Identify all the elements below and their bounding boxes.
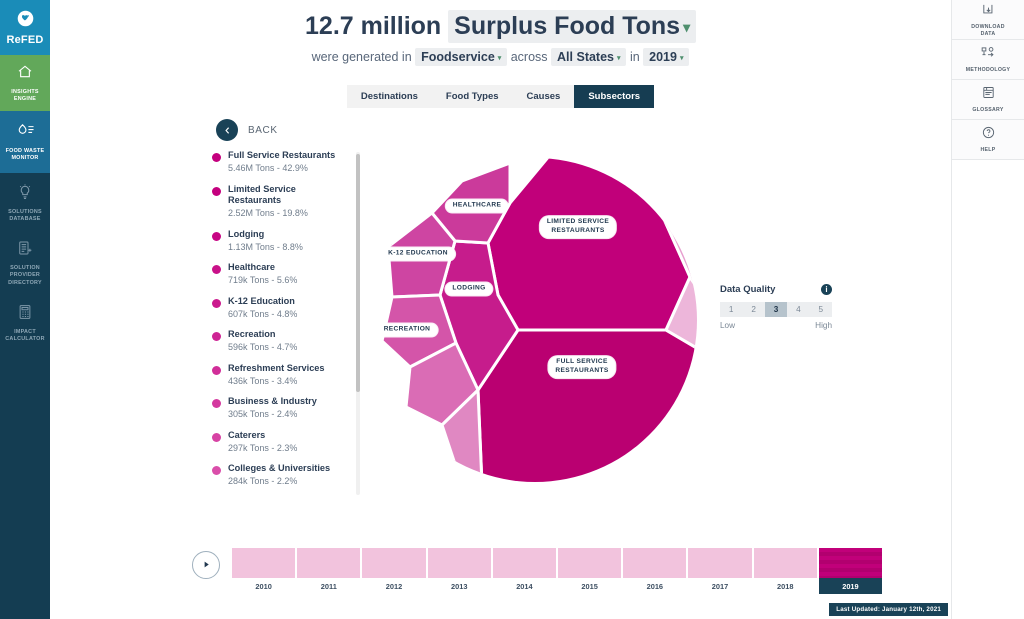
question-circle-icon [981, 125, 996, 145]
timeline-year-2017[interactable]: 2017 [688, 548, 751, 594]
chart-slices [382, 155, 700, 485]
year-dropdown[interactable]: 2019▾ [643, 48, 689, 66]
page-header: 12.7 million Surplus Food Tons▾ were gen… [50, 10, 951, 66]
sidebar-label-solutions-database: SOLUTIONS DATABASE [8, 209, 42, 224]
legend-color-dot [212, 153, 221, 162]
timeline-year-label: 2019 [819, 578, 882, 594]
chart-label-full-service-restaurants: FULL SERVICE RESTAURANTS [548, 356, 615, 378]
chart-label-healthcare: HEALTHCARE [446, 200, 508, 213]
app-root: ReFED INSIGHTS ENGINE FOOD WASTE MONITOR… [0, 0, 1024, 619]
home-icon [16, 63, 34, 86]
calculator-icon [16, 303, 34, 326]
legend-item[interactable]: K-12 Education607k Tons - 4.8% [212, 296, 347, 319]
lightbulb-icon [16, 183, 34, 206]
download-data-label: DOWNLOAD DATA [971, 24, 1005, 38]
glossary-button[interactable]: GLOSSARY [952, 80, 1024, 120]
prefix-text: were generated in [312, 50, 412, 64]
chevron-down-icon: ▾ [498, 55, 501, 62]
timeline-year-label: 2018 [754, 578, 817, 594]
tab-bar: Destinations Food Types Causes Subsector… [50, 85, 951, 108]
timeline-bar [232, 548, 295, 578]
data-quality-scale: 12345 [720, 302, 832, 317]
chevron-down-icon: ▾ [680, 55, 683, 62]
data-quality-high-label: High [815, 321, 832, 330]
timeline-year-2014[interactable]: 2014 [493, 548, 556, 594]
sidebar-label-solution-provider-directory: SOLUTION PROVIDER DIRECTORY [8, 265, 42, 287]
legend-item-value: 596k Tons - 4.7% [228, 342, 297, 352]
refed-smiley-icon [17, 10, 34, 32]
methodology-icon [980, 45, 996, 65]
chevron-left-icon [216, 119, 238, 141]
legend-item[interactable]: Lodging1.13M Tons - 8.8% [212, 229, 347, 252]
legend-item-value: 305k Tons - 2.4% [228, 409, 317, 419]
sidebar-item-solutions-database[interactable]: SOLUTIONS DATABASE [0, 173, 50, 233]
in-text: in [630, 50, 640, 64]
legend-color-dot [212, 399, 221, 408]
play-button[interactable] [192, 551, 220, 579]
left-sidebar: ReFED INSIGHTS ENGINE FOOD WASTE MONITOR… [0, 0, 50, 619]
back-label: BACK [248, 125, 278, 136]
sidebar-label-food-waste-monitor: FOOD WASTE MONITOR [6, 148, 45, 163]
timeline-year-2012[interactable]: 2012 [362, 548, 425, 594]
legend-item-label: Caterers [228, 430, 297, 442]
timeline-bar [428, 548, 491, 578]
timeline-year-2018[interactable]: 2018 [754, 548, 817, 594]
timeline-year-2011[interactable]: 2011 [297, 548, 360, 594]
timeline-bar [493, 548, 556, 578]
chart-svg [370, 155, 700, 485]
voronoi-treemap-chart: FULL SERVICE RESTAURANTS LIMITED SERVICE… [370, 155, 700, 485]
timeline-year-2010[interactable]: 2010 [232, 548, 295, 594]
region-label: All States [557, 50, 614, 64]
sector-label: Foodservice [421, 50, 495, 64]
legend-item[interactable]: Business & Industry305k Tons - 2.4% [212, 396, 347, 419]
timeline-year-label: 2012 [362, 578, 425, 594]
data-quality-level-5[interactable]: 5 [810, 302, 832, 317]
brand-name: ReFED [6, 34, 43, 46]
methodology-label: METHODOLOGY [966, 67, 1011, 74]
help-label: HELP [980, 147, 995, 154]
legend-item-label: Limited Service Restaurants [228, 184, 347, 207]
legend-list: Full Service Restaurants5.46M Tons - 42.… [212, 150, 347, 495]
info-icon[interactable]: i [821, 284, 832, 295]
legend-color-dot [212, 433, 221, 442]
sidebar-item-food-waste-monitor[interactable]: FOOD WASTE MONITOR [0, 111, 50, 173]
timeline-year-label: 2013 [428, 578, 491, 594]
legend-scrollbar-thumb[interactable] [356, 154, 360, 392]
region-dropdown[interactable]: All States▾ [551, 48, 626, 66]
legend-item-label: Healthcare [228, 262, 297, 274]
legend-item-label: Recreation [228, 329, 297, 341]
legend-item[interactable]: Full Service Restaurants5.46M Tons - 42.… [212, 150, 347, 173]
timeline-year-label: 2016 [623, 578, 686, 594]
subheadline: were generated in Foodservice▾ across Al… [50, 48, 951, 66]
timeline-year-label: 2014 [493, 578, 556, 594]
data-quality-low-label: Low [720, 321, 735, 330]
sidebar-item-solution-provider-directory[interactable]: SOLUTION PROVIDER DIRECTORY [0, 233, 50, 293]
metric-label: Surplus Food Tons [454, 12, 680, 40]
play-icon [202, 556, 211, 574]
sidebar-label-insights-engine: INSIGHTS ENGINE [11, 89, 38, 104]
legend-color-dot [212, 265, 221, 274]
legend-item[interactable]: Healthcare719k Tons - 5.6% [212, 262, 347, 285]
legend-color-dot [212, 299, 221, 308]
data-quality-level-3[interactable]: 3 [765, 302, 787, 317]
book-icon [981, 85, 996, 105]
timeline-year-2015[interactable]: 2015 [558, 548, 621, 594]
legend-color-dot [212, 332, 221, 341]
legend-item-label: Refreshment Services [228, 363, 325, 375]
legend-item-value: 2.52M Tons - 19.8% [228, 208, 347, 218]
chart-label-limited-service-restaurants: LIMITED SERVICE RESTAURANTS [540, 216, 616, 238]
legend-item-label: K-12 Education [228, 296, 297, 308]
legend-item-label: Colleges & Universities [228, 463, 330, 475]
legend-item[interactable]: Recreation596k Tons - 4.7% [212, 329, 347, 352]
legend-item[interactable]: Colleges & Universities284k Tons - 2.2% [212, 463, 347, 486]
legend-item-value: 607k Tons - 4.8% [228, 309, 297, 319]
last-updated-badge: Last Updated: January 12th, 2021 [829, 603, 948, 616]
legend-color-dot [212, 187, 221, 196]
total-amount: 12.7 million [305, 12, 441, 40]
help-button[interactable]: HELP [952, 120, 1024, 160]
timeline-bar [688, 548, 751, 578]
methodology-button[interactable]: METHODOLOGY [952, 40, 1024, 80]
timeline-year-label: 2011 [297, 578, 360, 594]
tab-food-types[interactable]: Food Types [432, 85, 513, 108]
directory-plus-icon [16, 239, 34, 262]
legend-item-label: Lodging [228, 229, 303, 241]
sidebar-item-impact-calculator[interactable]: IMPACT CALCULATOR [0, 293, 50, 353]
legend-item-value: 1.13M Tons - 8.8% [228, 242, 303, 252]
legend-item-value: 719k Tons - 5.6% [228, 275, 297, 285]
slice-limited-service-restaurants[interactable] [488, 155, 690, 330]
timeline-bar [623, 548, 686, 578]
data-quality-level-2[interactable]: 2 [742, 302, 764, 317]
legend-item[interactable]: Refreshment Services436k Tons - 3.4% [212, 363, 347, 386]
download-icon [981, 2, 996, 22]
chart-label-k12-education: K-12 EDUCATION [381, 248, 455, 261]
tab-destinations[interactable]: Destinations [347, 85, 432, 108]
timeline-year-2016[interactable]: 2016 [623, 548, 686, 594]
timeline-bar [297, 548, 360, 578]
sidebar-label-impact-calculator: IMPACT CALCULATOR [5, 329, 44, 344]
legend-item-label: Full Service Restaurants [228, 150, 335, 162]
back-button[interactable]: BACK [216, 119, 278, 141]
timeline-year-2019[interactable]: 2019 [819, 548, 882, 594]
data-quality-level-1[interactable]: 1 [720, 302, 742, 317]
slice-full-service-restaurants[interactable] [478, 330, 700, 485]
data-quality-level-4[interactable]: 4 [787, 302, 809, 317]
timeline-year-label: 2015 [558, 578, 621, 594]
chevron-down-icon: ▾ [617, 55, 620, 62]
sector-dropdown[interactable]: Foodservice▾ [415, 48, 507, 66]
tab-causes[interactable]: Causes [513, 85, 575, 108]
chevron-down-icon: ▾ [683, 20, 690, 35]
timeline-bar [558, 548, 621, 578]
connector-text: across [511, 50, 548, 64]
download-data-button[interactable]: DOWNLOAD DATA [952, 0, 1024, 40]
refed-logo[interactable]: ReFED [0, 0, 50, 55]
year-label: 2019 [649, 50, 677, 64]
food-waste-drop-icon [16, 122, 35, 145]
timeline-bars: 2010201120122013201420152016201720182019 [232, 548, 882, 594]
timeline-bar [362, 548, 425, 578]
chart-label-recreation: RECREATION [377, 324, 438, 337]
headline: 12.7 million Surplus Food Tons▾ [50, 10, 951, 43]
legend-item-value: 436k Tons - 3.4% [228, 376, 325, 386]
timeline-bar [754, 548, 817, 578]
timeline-year-2013[interactable]: 2013 [428, 548, 491, 594]
metric-dropdown[interactable]: Surplus Food Tons▾ [448, 10, 696, 43]
right-sidebar: DOWNLOAD DATA METHODOLOGY GLOSSARY HELP [951, 0, 1024, 619]
sidebar-item-insights-engine[interactable]: INSIGHTS ENGINE [0, 55, 50, 111]
legend-color-dot [212, 232, 221, 241]
legend-item[interactable]: Limited Service Restaurants2.52M Tons - … [212, 184, 347, 219]
legend-item-label: Business & Industry [228, 396, 317, 408]
timeline-bar [819, 548, 882, 578]
legend-item-value: 5.46M Tons - 42.9% [228, 163, 335, 173]
data-quality-title: Data Quality [720, 284, 775, 295]
glossary-label: GLOSSARY [972, 107, 1003, 114]
timeline-year-label: 2017 [688, 578, 751, 594]
legend-color-dot [212, 366, 221, 375]
legend-color-dot [212, 466, 221, 475]
data-quality-widget: Data Quality i 12345 Low High [720, 284, 832, 330]
legend-item-value: 297k Tons - 2.3% [228, 443, 297, 453]
year-timeline: 2010201120122013201420152016201720182019 [192, 548, 882, 594]
chart-legend: Full Service Restaurants5.46M Tons - 42.… [212, 150, 360, 495]
legend-scrollbar-track[interactable] [356, 152, 360, 495]
tab-subsectors[interactable]: Subsectors [574, 85, 654, 108]
legend-item[interactable]: Caterers297k Tons - 2.3% [212, 430, 347, 453]
legend-item-value: 284k Tons - 2.2% [228, 476, 330, 486]
timeline-year-label: 2010 [232, 578, 295, 594]
chart-label-lodging: LODGING [445, 283, 492, 296]
